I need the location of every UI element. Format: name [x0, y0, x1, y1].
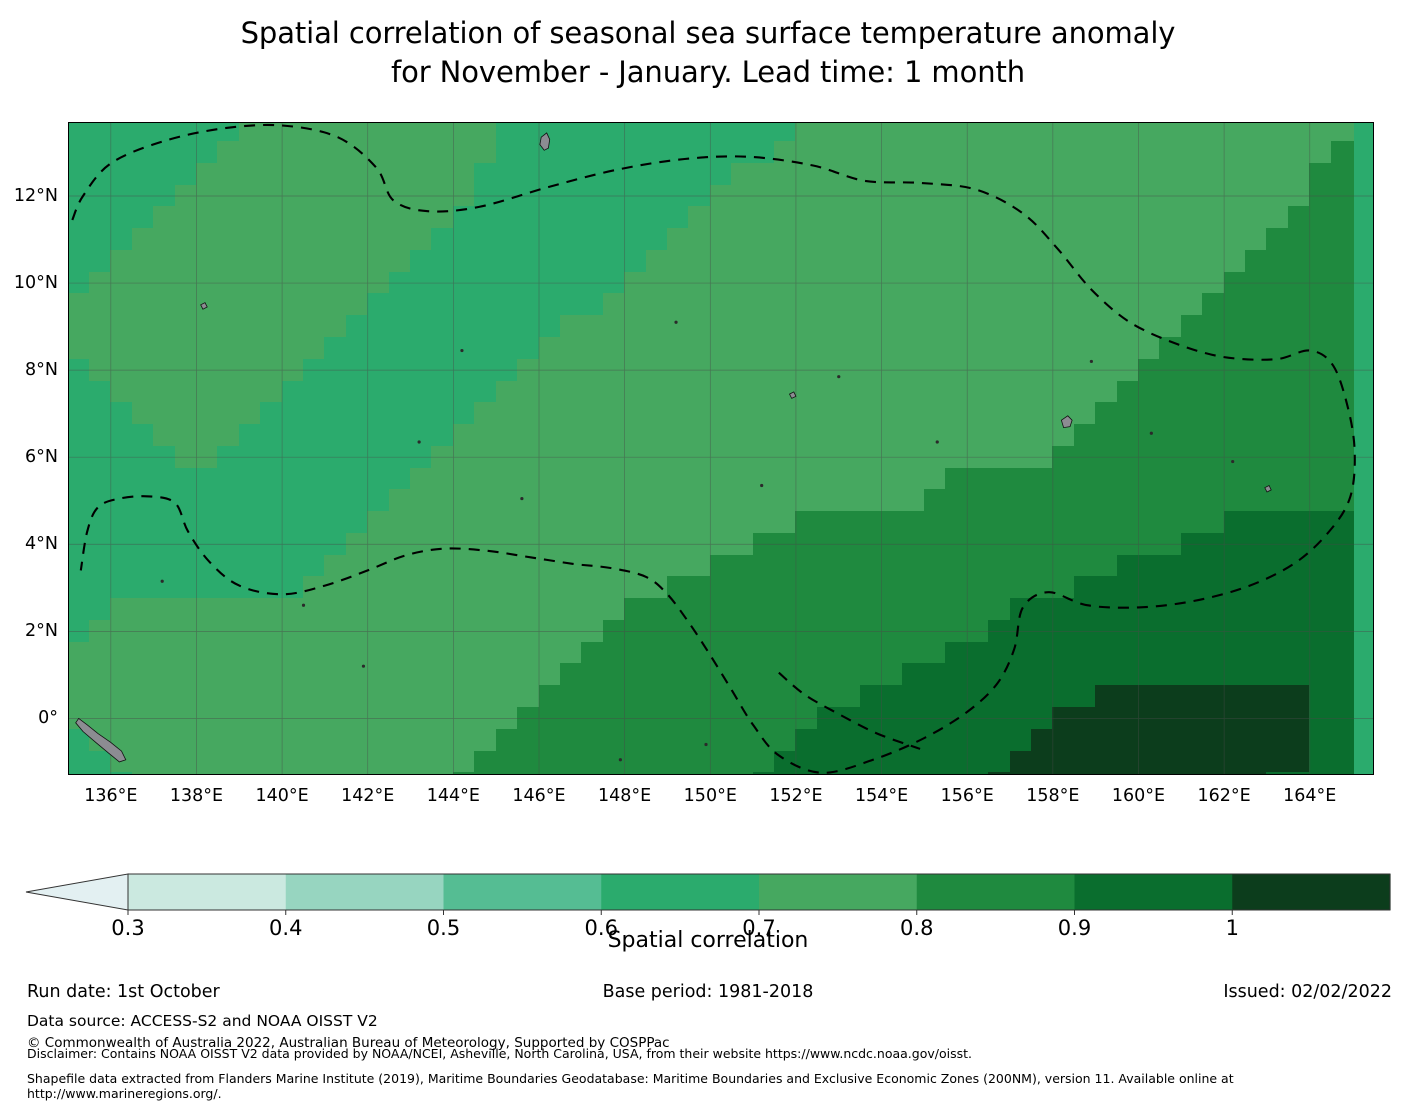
y-tick-label: 6°N	[0, 447, 58, 467]
coastline-layer	[76, 133, 1272, 762]
colorbar-band-3[interactable]	[601, 874, 759, 910]
x-tick-label: 144°E	[427, 786, 480, 806]
colorbar-label: Spatial correlation	[0, 928, 1416, 953]
x-tick-label: 156°E	[941, 786, 994, 806]
data-source: Data source: ACCESS-S2 and NOAA OISST V2	[27, 1012, 378, 1030]
info-row: Run date: 1st October Base period: 1981-…	[0, 982, 1416, 1006]
title-line-1: Spatial correlation of seasonal sea surf…	[0, 14, 1416, 53]
shapefile-attribution: Shapefile data extracted from Flanders M…	[27, 1071, 1416, 1101]
disclaimer-text: Disclaimer: Contains NOAA OISST V2 data …	[27, 1046, 972, 1061]
colorbar-band-2[interactable]	[444, 874, 602, 910]
x-tick-label: 154°E	[855, 786, 908, 806]
x-tick-label: 162°E	[1198, 786, 1251, 806]
y-tick-label: 2°N	[0, 621, 58, 641]
map-plot-area[interactable]	[68, 122, 1374, 775]
issued-date: Issued: 02/02/2022	[1223, 982, 1392, 1002]
colorbar-extend-min[interactable]	[26, 874, 128, 910]
y-tick-label: 0°	[0, 708, 58, 728]
title-line-2: for November - January. Lead time: 1 mon…	[0, 53, 1416, 92]
colorbar[interactable]: 0.30.40.50.60.70.80.91 Spatial correlati…	[0, 868, 1416, 978]
x-tick-label: 148°E	[598, 786, 651, 806]
y-tick-label: 4°N	[0, 534, 58, 554]
x-tick-label: 142°E	[341, 786, 394, 806]
y-tick-label: 10°N	[0, 273, 58, 293]
x-tick-label: 164°E	[1283, 786, 1336, 806]
eez-boundary-layer	[72, 125, 1354, 773]
x-tick-label: 136°E	[84, 786, 137, 806]
x-tick-label: 138°E	[170, 786, 223, 806]
colorbar-band-7[interactable]	[1232, 874, 1390, 910]
x-tick-label: 160°E	[1112, 786, 1165, 806]
colorbar-band-5[interactable]	[917, 874, 1075, 910]
y-tick-label: 8°N	[0, 360, 58, 380]
base-period: Base period: 1981-2018	[0, 982, 1416, 1002]
map-overlay	[68, 122, 1374, 775]
map-gridlines	[68, 122, 1374, 775]
x-tick-label: 150°E	[684, 786, 737, 806]
x-tick-label: 140°E	[255, 786, 308, 806]
chart-title: Spatial correlation of seasonal sea surf…	[0, 14, 1416, 91]
x-tick-label: 146°E	[512, 786, 565, 806]
colorbar-band-1[interactable]	[286, 874, 444, 910]
colorbar-band-0[interactable]	[128, 874, 286, 910]
x-tick-label: 158°E	[1026, 786, 1079, 806]
colorbar-swatches[interactable]	[0, 868, 1416, 920]
x-tick-label: 152°E	[769, 786, 822, 806]
colorbar-band-4[interactable]	[759, 874, 917, 910]
y-tick-label: 12°N	[0, 186, 58, 206]
colorbar-band-6[interactable]	[1075, 874, 1233, 910]
